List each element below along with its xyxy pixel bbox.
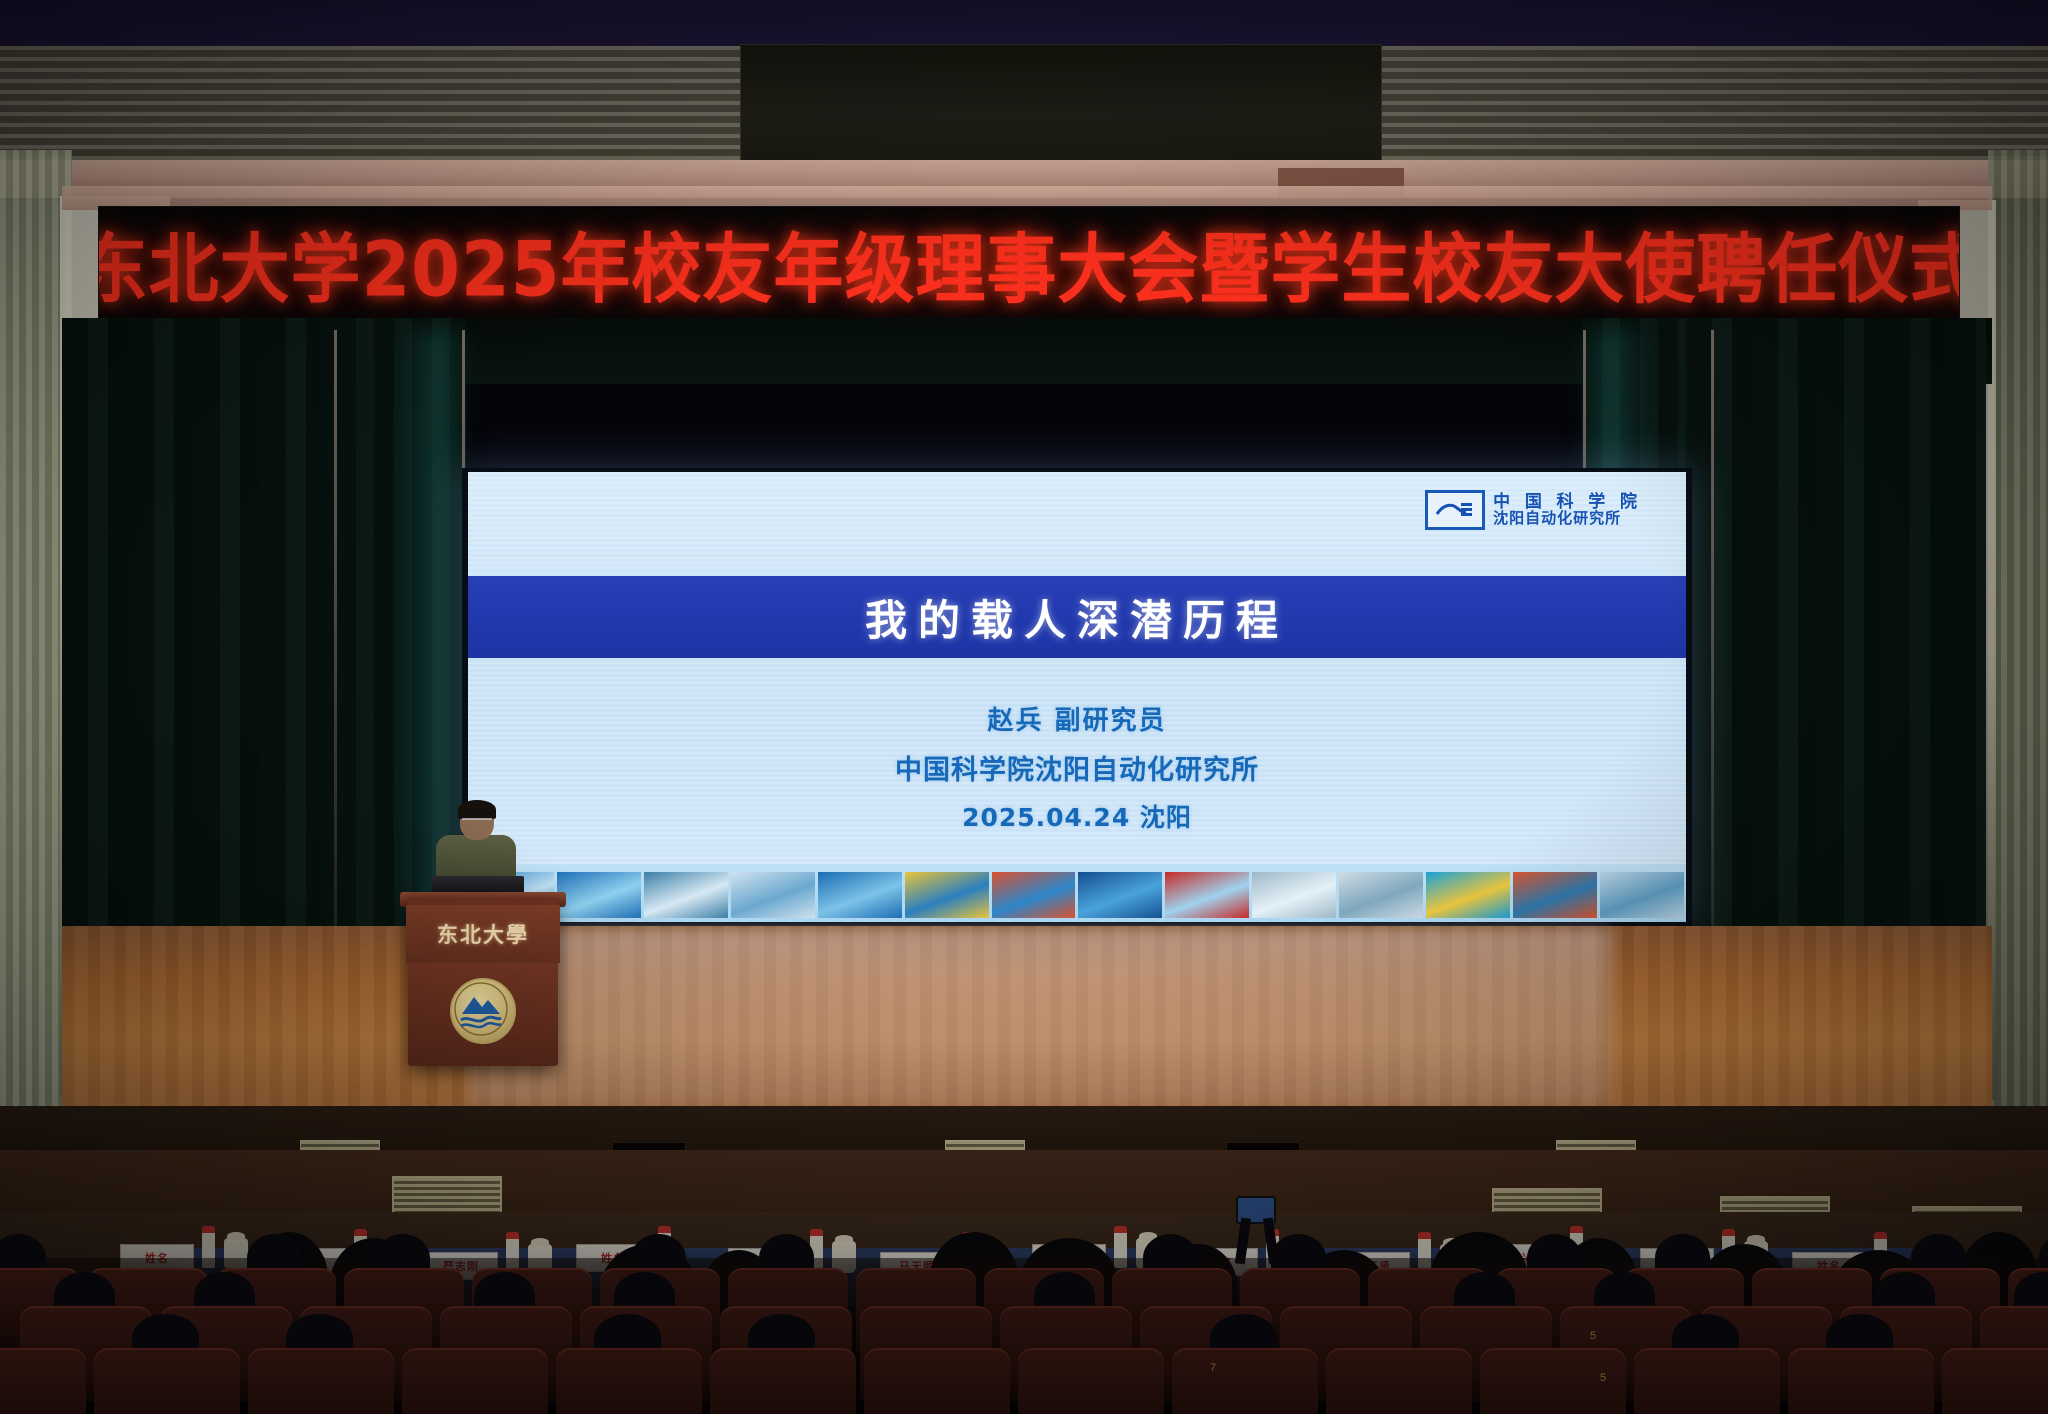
- slide-title: 我的载人深潜历程: [865, 587, 1289, 648]
- curtain-seam-3: [1711, 330, 1714, 1020]
- ceiling-acoustic-slats-right: [1378, 46, 2048, 166]
- photo-ship-bridge: [1252, 872, 1336, 918]
- audience-seat: [1634, 1348, 1780, 1414]
- photo-crew-team: [1513, 872, 1597, 918]
- audience-seat: [1788, 1348, 1934, 1414]
- photo-harbour-equipment: [1600, 872, 1684, 918]
- photo-rocket-launch-tower: [731, 872, 815, 918]
- photo-rov-on-deck: [1339, 872, 1423, 918]
- photo-deep-sea-glider: [1426, 872, 1510, 918]
- neu-emblem-icon: [450, 978, 516, 1044]
- photo-deployment-crane: [644, 872, 728, 918]
- audience-seat: [556, 1348, 702, 1414]
- side-wall-right-fluted: [1988, 150, 2048, 1130]
- audience-seat: [864, 1348, 1010, 1414]
- slide-presenter: 赵兵 副研究员: [468, 700, 1686, 737]
- led-banner: 东北大学2025年校友年级理事大会暨学生校友大使聘任仪式: [98, 206, 1960, 320]
- slide-logo-line1: 中 国 科 学 院: [1493, 493, 1642, 511]
- slide-affiliation: 中国科学院沈阳自动化研究所: [468, 748, 1686, 787]
- podium-name-panel: 东北大學: [406, 905, 560, 963]
- slide-photo-filmstrip: [468, 864, 1686, 922]
- cas-sia-logo-mark-icon: [1425, 490, 1485, 530]
- audience-seat: [1942, 1348, 2048, 1414]
- wall-vent-1: [392, 1176, 502, 1216]
- stage-floor-light-pool: [470, 928, 1610, 1108]
- seat-number-label: 5: [1600, 1372, 1606, 1384]
- photo-flag-on-deck: [1165, 872, 1249, 918]
- ceiling-acoustic-slats-left: [0, 46, 742, 166]
- seat-number-label: 5: [1590, 1330, 1596, 1342]
- audience-seat: [402, 1348, 548, 1414]
- photo-jiaolong-at-sea: [1078, 872, 1162, 918]
- photo-lab-equipment: [818, 872, 902, 918]
- slide-title-band: 我的载人深潜历程: [468, 576, 1686, 658]
- photo-submersible-underwater: [557, 872, 641, 918]
- photo-yellow-submersible: [905, 872, 989, 918]
- audience-seat: [0, 1348, 86, 1414]
- speaker-glasses: [462, 818, 492, 827]
- led-banner-text: 东北大学2025年校友年级理事大会暨学生校友大使聘任仪式: [98, 208, 1960, 317]
- seat-number-label: 7: [1210, 1362, 1216, 1374]
- podium-name-text: 东北大學: [437, 919, 529, 949]
- audience-seat: [248, 1348, 394, 1414]
- slide-logo: 中 国 科 学 院 沈阳自动化研究所: [1425, 490, 1642, 530]
- slide-subtitle-block: 赵兵 副研究员 中国科学院沈阳自动化研究所 2025.04.24 沈阳: [468, 700, 1686, 834]
- projection-screen: 中 国 科 学 院 沈阳自动化研究所 我的载人深潜历程 赵兵 副研究员 中国科学…: [468, 472, 1686, 922]
- audience-seat: [710, 1348, 856, 1414]
- auditorium-photo: 东北大学2025年校友年级理事大会暨学生校友大使聘任仪式 中 国 科 学 院 沈…: [0, 0, 2048, 1414]
- audience-seat: [94, 1348, 240, 1414]
- audience-seat: [1018, 1348, 1164, 1414]
- speaker-hair: [458, 800, 496, 819]
- slide-logo-line2: 沈阳自动化研究所: [1493, 511, 1642, 527]
- ceiling-projector-panel: [740, 44, 1382, 164]
- audience-seat: [1326, 1348, 1472, 1414]
- slide-date-location: 2025.04.24 沈阳: [468, 798, 1686, 834]
- audience-seat: [1172, 1348, 1318, 1414]
- curtain-seam-1: [334, 330, 337, 1020]
- photo-sea-recovery-operation: [992, 872, 1076, 918]
